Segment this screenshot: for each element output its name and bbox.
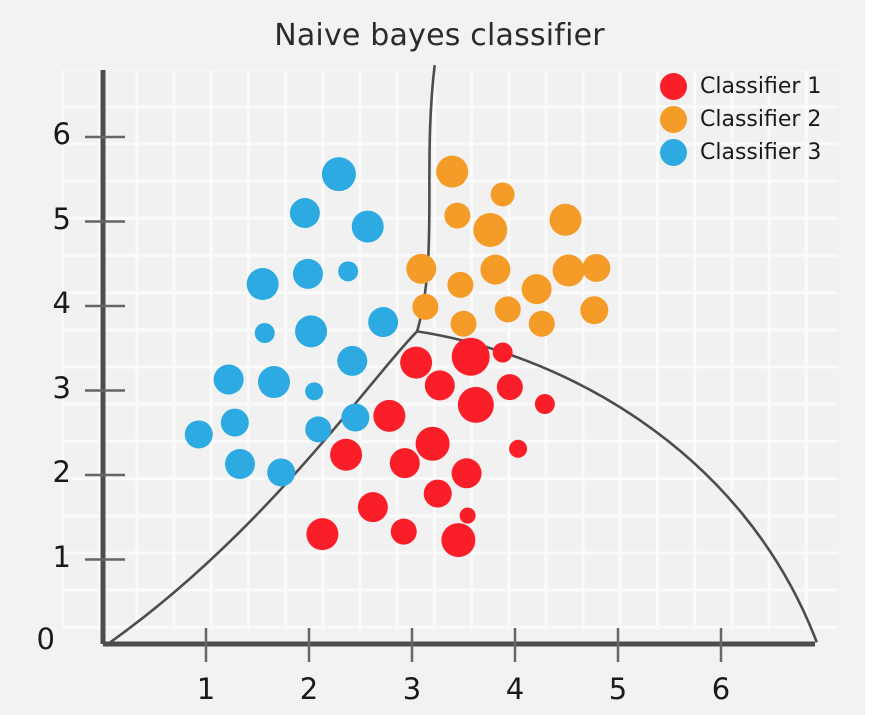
legend-label-classifier-3: Classifier 3 (700, 140, 821, 165)
legend-label-classifier-2: Classifier 2 (700, 107, 821, 132)
y-tick-label-6: 6 (31, 117, 71, 151)
x-tick-label-5: 5 (598, 672, 638, 706)
legend-item-classifier-3[interactable]: Classifier 3 (660, 136, 821, 169)
legend-item-classifier-1[interactable]: Classifier 1 (660, 70, 821, 103)
y-tick-label-3: 3 (31, 371, 71, 405)
chart-figure: Naive bayes classifier 0123456123456 Cla… (0, 0, 879, 715)
x-tick-label-6: 6 (701, 672, 741, 706)
y-tick-label-4: 4 (31, 286, 71, 320)
x-tick-label-3: 3 (392, 672, 432, 706)
data-points (185, 156, 611, 557)
y-tick-label-5: 5 (31, 202, 71, 236)
right-margin (865, 0, 879, 715)
chart-legend: Classifier 1 Classifier 2 Classifier 3 (660, 70, 821, 169)
x-tick-label-2: 2 (289, 672, 329, 706)
legend-item-classifier-2[interactable]: Classifier 2 (660, 103, 821, 136)
x-tick-label-1: 1 (186, 672, 226, 706)
legend-swatch-classifier-3 (660, 139, 687, 166)
y-tick-label-2: 2 (31, 455, 71, 489)
y-tick-label-0: 0 (15, 622, 55, 656)
legend-swatch-classifier-2 (660, 106, 687, 133)
legend-label-classifier-1: Classifier 1 (700, 74, 821, 99)
y-tick-label-1: 1 (31, 540, 71, 574)
x-tick-label-4: 4 (495, 672, 535, 706)
legend-swatch-classifier-1 (660, 73, 687, 100)
